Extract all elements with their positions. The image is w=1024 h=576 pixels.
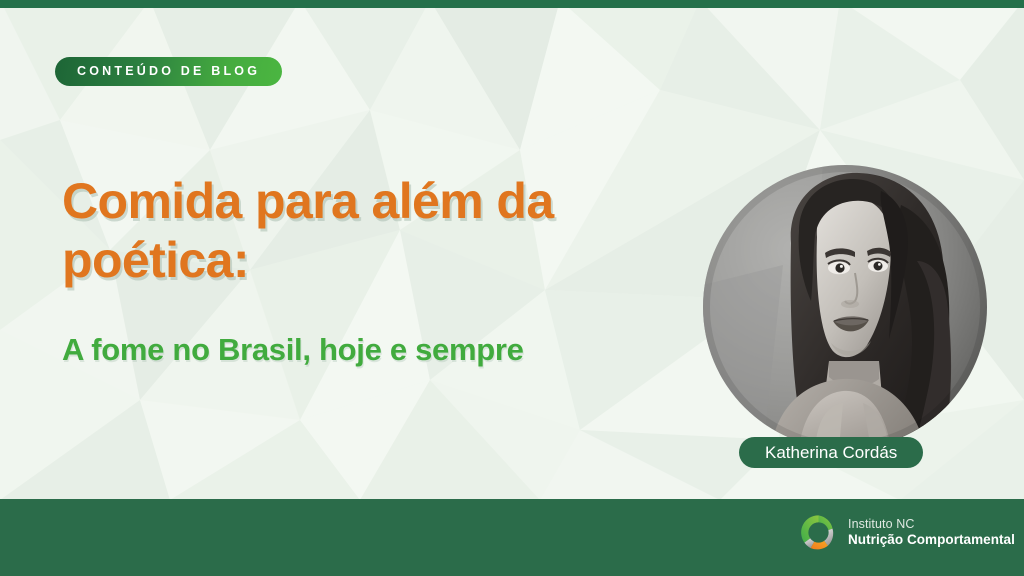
author-name-badge: Katherina Cordás [739, 437, 923, 468]
blog-content-slide: CONTEÚDO DE BLOG Comida para além da poé… [0, 0, 1024, 576]
author-name-label: Katherina Cordás [765, 444, 897, 461]
ring-logo-icon [799, 513, 838, 552]
category-pill: CONTEÚDO DE BLOG [55, 57, 282, 86]
page-title: Comida para além da poética: [62, 172, 682, 289]
brand-name-top: Instituto NC [848, 517, 1015, 532]
brand-logo: Instituto NC Nutrição Comportamental [799, 513, 1015, 552]
top-accent-bar [0, 0, 1024, 8]
brand-name-bottom: Nutrição Comportamental [848, 532, 1015, 548]
category-pill-label: CONTEÚDO DE BLOG [77, 65, 260, 78]
avatar [703, 165, 987, 449]
brand-logo-text: Instituto NC Nutrição Comportamental [848, 517, 1015, 548]
portrait-photo [703, 165, 987, 449]
page-subtitle: A fome no Brasil, hoje e sempre [62, 331, 712, 368]
